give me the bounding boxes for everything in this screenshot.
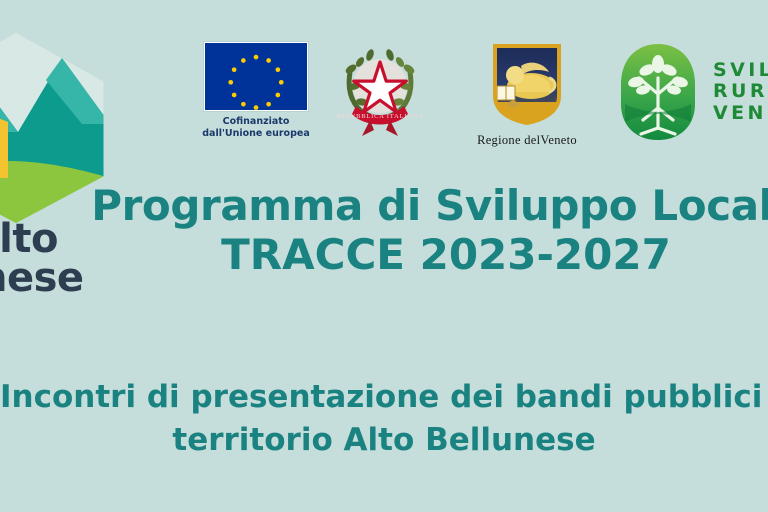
srv-word-2: RURALE — [713, 81, 768, 102]
tree-oval-icon — [617, 42, 699, 142]
european-union-flag-icon — [204, 42, 308, 111]
page-title: Programma di Sviluppo Locale TRACCE 2023… — [0, 182, 768, 279]
italy-ribbon-text: REPVBBLICA ITALIANA — [336, 113, 423, 120]
sviluppo-rurale-veneto-wordmark: SVILUPPO RURALE VENETO — [713, 60, 768, 124]
eu-stars-icon — [205, 43, 307, 110]
winged-lion-shield-icon — [491, 42, 563, 126]
poster-banner: Alto Bellunese — [0, 0, 768, 512]
institutional-logos-row: Cofinanziato dall'Unione europea — [0, 42, 768, 154]
srv-word-1: SVILUPPO — [713, 60, 768, 81]
regione-del-veneto-logo: Regione delVeneto — [452, 42, 602, 148]
subtitle-line2: territorio Alto Bellunese — [0, 419, 768, 462]
srv-word-3: VENETO — [713, 103, 768, 124]
headline-line1: Programma di Sviluppo Locale — [62, 182, 768, 231]
eu-cofinancing-logo: Cofinanziato dall'Unione europea — [197, 42, 315, 140]
eu-caption-line2: dall'Unione europea — [197, 128, 315, 140]
republic-of-italy-emblem-logo: REPVBBLICA ITALIANA — [330, 42, 430, 146]
page-subtitle: Incontri di presentazione dei bandi pubb… — [0, 376, 768, 462]
regione-veneto-caption-text: Regione delVeneto — [477, 133, 577, 147]
headline-line2: TRACCE 2023-2027 — [62, 231, 768, 280]
eu-logo-caption: Cofinanziato dall'Unione europea — [197, 116, 315, 140]
sviluppo-rurale-veneto-logo: SVILUPPO RURALE VENETO — [617, 42, 768, 142]
subtitle-line1: Incontri di presentazione dei bandi pubb… — [0, 376, 768, 419]
italian-republic-emblem-icon: REPVBBLICA ITALIANA — [330, 42, 430, 142]
eu-caption-line1: Cofinanziato — [197, 116, 315, 128]
regione-veneto-caption: Regione delVeneto — [452, 133, 602, 148]
